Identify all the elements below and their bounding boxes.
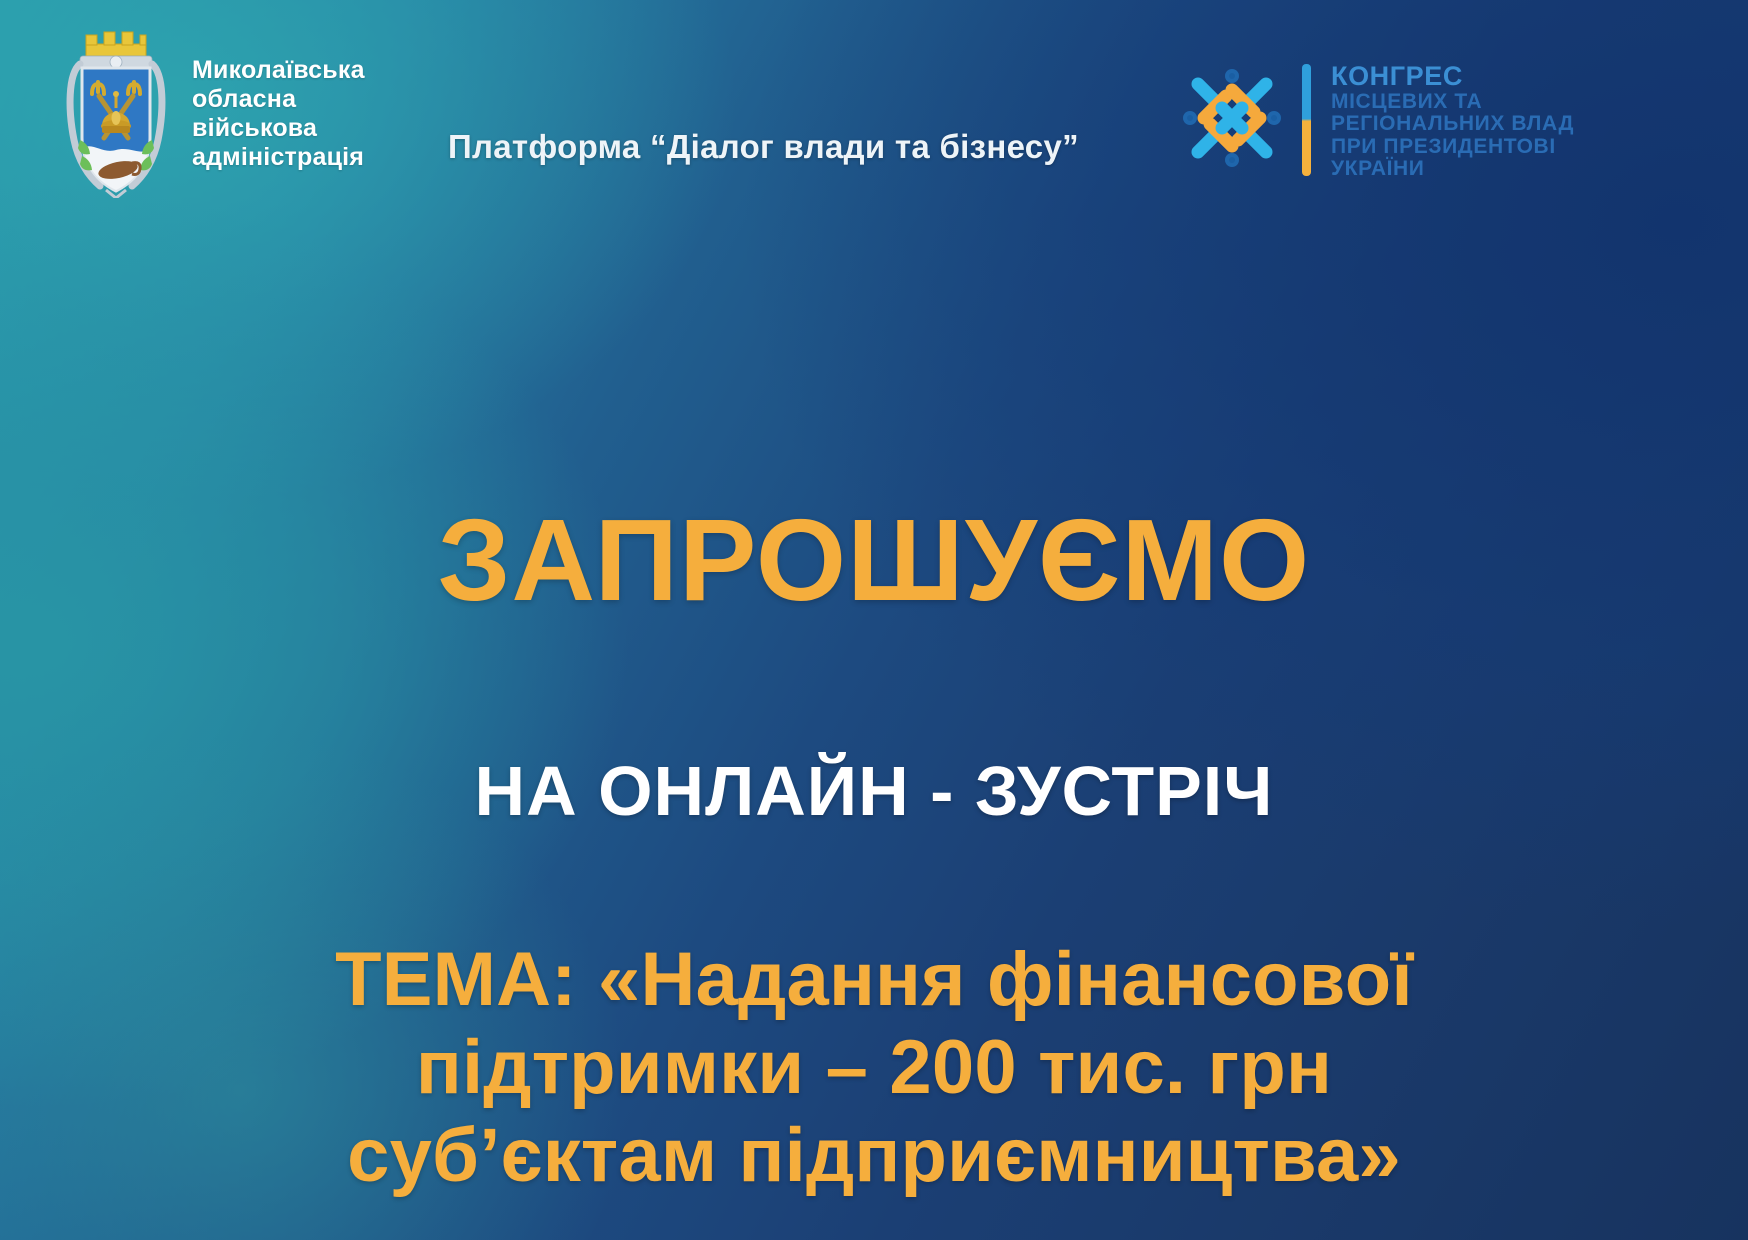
- event-invitation-poster: Миколаївська обласна військова адміністр…: [0, 0, 1748, 1240]
- headline-invitation: ЗАПРОШУЄМО: [0, 502, 1748, 618]
- congress-name-line-4: ПРИ ПРЕЗИДЕНТОВІ: [1331, 136, 1574, 158]
- congress-name-line-5: УКРАЇНИ: [1331, 158, 1574, 180]
- congress-star-logo-icon: [1176, 62, 1288, 174]
- platform-title: Платформа “Діалог влади та бізнесу”: [448, 128, 1079, 166]
- administration-name-line-2: обласна: [192, 85, 365, 114]
- administration-name-line-1: Миколаївська: [192, 56, 365, 85]
- congress-name-line-3: РЕГІОНАЛЬНИХ ВЛАД: [1331, 113, 1574, 135]
- administration-name-line-4: адміністрація: [192, 143, 365, 172]
- administration-name: Миколаївська обласна військова адміністр…: [192, 56, 365, 172]
- meeting-topic-line-3: суб’єктам підприємництва»: [0, 1112, 1748, 1200]
- subheadline-online-meeting: НА ОНЛАЙН - ЗУСТРІЧ: [0, 756, 1748, 826]
- congress-logo-block: КОНГРЕС МІСЦЕВИХ ТА РЕГІОНАЛЬНИХ ВЛАД ПР…: [1176, 62, 1574, 181]
- congress-flag-bar-icon: [1302, 64, 1311, 176]
- meeting-topic-line-1: ТЕМА: «Надання фінансової: [0, 936, 1748, 1024]
- regional-administration-block: Миколаївська обласна військова адміністр…: [62, 30, 365, 198]
- mykolaiv-coat-of-arms-icon: [62, 30, 170, 198]
- congress-name-line-1: КОНГРЕС: [1331, 62, 1574, 91]
- meeting-topic: ТЕМА: «Надання фінансової підтримки – 20…: [0, 936, 1748, 1200]
- poster-header: Миколаївська обласна військова адміністр…: [0, 0, 1748, 210]
- administration-name-line-3: військова: [192, 114, 365, 143]
- congress-name-line-2: МІСЦЕВИХ ТА: [1331, 91, 1574, 113]
- congress-name: КОНГРЕС МІСЦЕВИХ ТА РЕГІОНАЛЬНИХ ВЛАД ПР…: [1331, 62, 1574, 181]
- meeting-topic-line-2: підтримки – 200 тис. грн: [0, 1024, 1748, 1112]
